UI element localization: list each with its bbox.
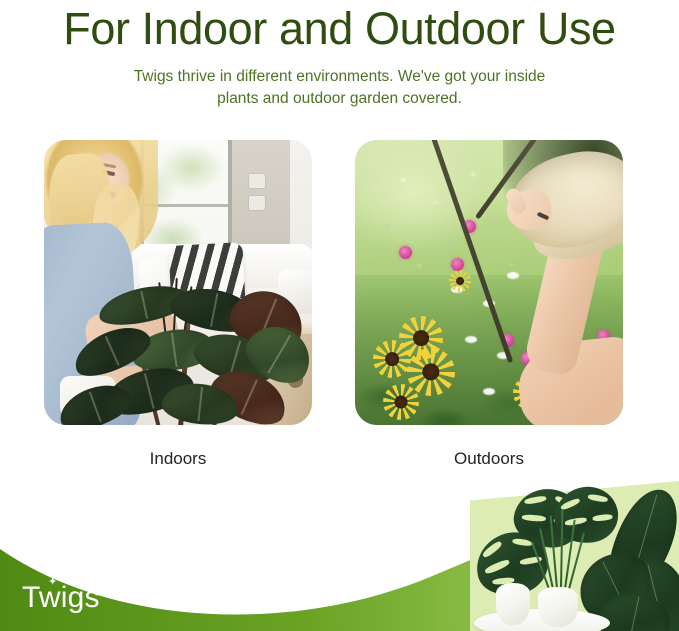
sunflower-4: [383, 384, 419, 420]
header: For Indoor and Outdoor Use Twigs thrive …: [0, 0, 679, 120]
pink-flower-2: [451, 258, 464, 271]
photo-outdoors: [355, 140, 623, 425]
card-indoors: [44, 140, 312, 425]
sunflower-6: [449, 270, 471, 292]
sunflower-2: [373, 340, 411, 378]
white-flower-4: [465, 336, 477, 343]
brand-star-icon: ✦: [48, 576, 57, 587]
footer: Twigs ✦: [0, 481, 679, 631]
light-switch-lower: [249, 196, 265, 210]
white-pot-right: [538, 587, 578, 627]
pink-flower-3: [399, 246, 412, 259]
card-outdoors: [355, 140, 623, 425]
page-title: For Indoor and Outdoor Use: [0, 0, 679, 56]
white-flower-6: [483, 388, 495, 395]
caption-outdoors: Outdoors: [355, 449, 623, 469]
white-pot-left: [496, 583, 530, 625]
light-switch-upper: [249, 174, 265, 188]
caption-indoors: Indoors: [44, 449, 312, 469]
white-flower-3: [507, 272, 519, 279]
brand-logo: Twigs: [22, 581, 100, 615]
feature-cards: [0, 140, 679, 430]
photo-indoors: [44, 140, 312, 425]
page-subtitle: Twigs thrive in different environments. …: [125, 66, 555, 110]
footer-plant-panel: [470, 481, 679, 631]
